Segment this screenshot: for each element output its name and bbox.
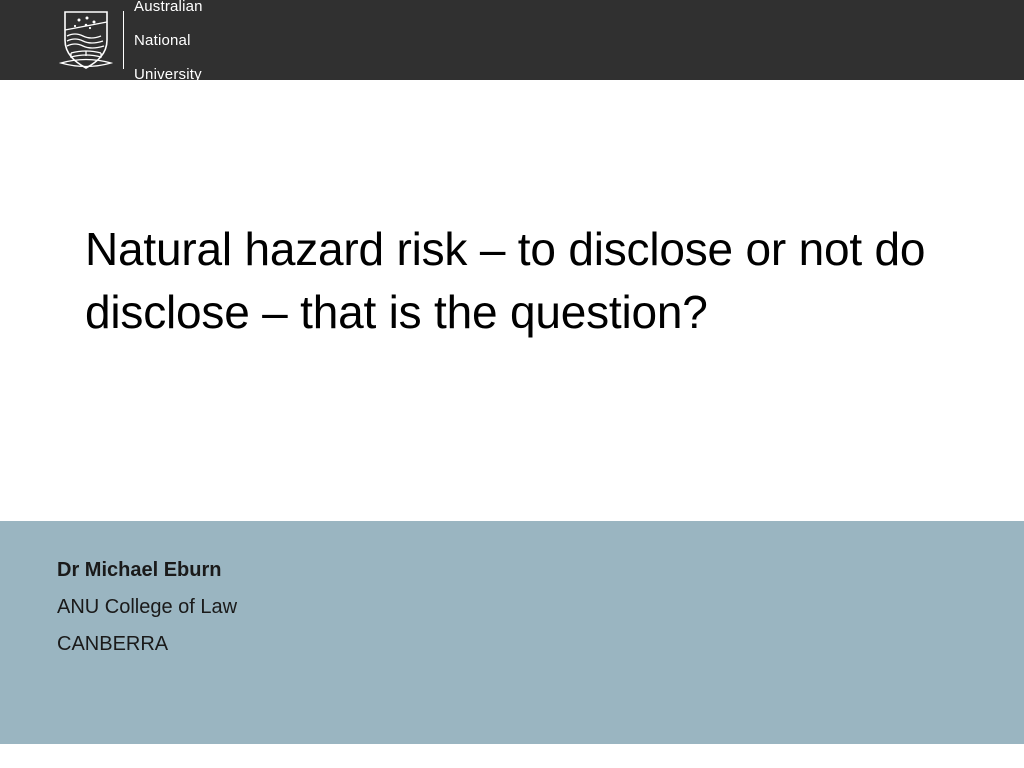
- presentation-slide: Australian National University Natural h…: [0, 0, 1024, 768]
- logo-divider: [123, 11, 124, 69]
- presenter-details: Dr Michael Eburn ANU College of Law CANB…: [57, 552, 757, 663]
- title-area: Natural hazard risk – to disclose or not…: [85, 218, 945, 344]
- presenter-affiliation: ANU College of Law: [57, 589, 757, 626]
- anu-logo: Australian National University: [55, 6, 203, 74]
- bottom-strip: [0, 744, 1024, 768]
- presenter-location: CANBERRA: [57, 626, 757, 663]
- wordmark-line-1: Australian: [134, 0, 203, 15]
- anu-crest-icon: [55, 6, 117, 74]
- wordmark-line-3: University: [134, 66, 203, 83]
- presenter-name: Dr Michael Eburn: [57, 552, 757, 589]
- slide-title: Natural hazard risk – to disclose or not…: [85, 218, 945, 344]
- header-bar: Australian National University: [0, 0, 1024, 80]
- wordmark-line-2: National: [134, 32, 203, 49]
- anu-wordmark: Australian National University: [134, 0, 203, 100]
